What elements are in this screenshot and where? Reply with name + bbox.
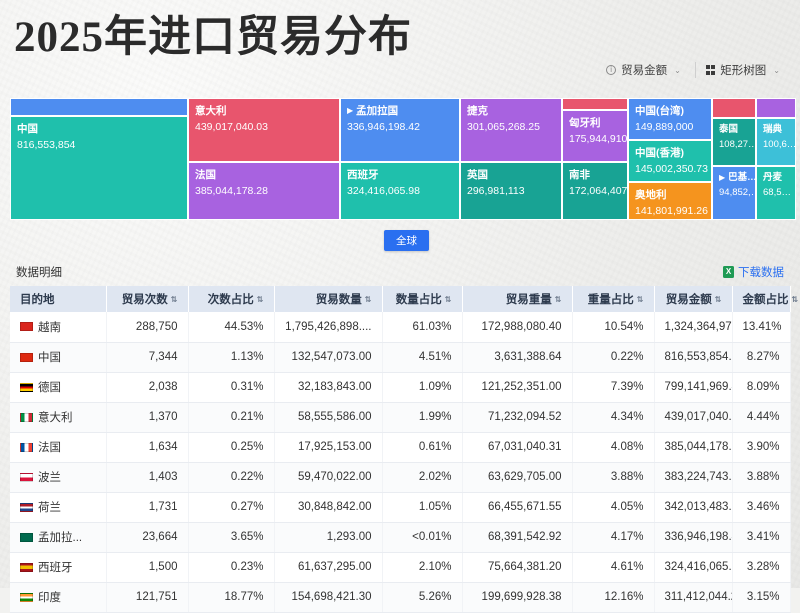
table-header-贸易次数[interactable]: 贸易次数⇅	[106, 286, 188, 312]
cell-quantity: 32,183,843.00	[274, 372, 382, 402]
cell-quantity_pct: 1.05%	[382, 492, 462, 522]
table-header-label: 贸易次数	[122, 294, 168, 306]
cell-amount: 342,013,483.09	[654, 492, 732, 522]
destination-label: 西班牙	[38, 559, 73, 575]
cell-count_pct: 18.77%	[188, 582, 274, 612]
country-flag-icon	[20, 473, 33, 482]
cell-amount_pct: 3.46%	[732, 492, 790, 522]
treemap-tile-value: 816,553,854	[17, 138, 181, 152]
table-header-label: 次数占比	[208, 294, 254, 306]
treemap-tile-value: 100,6…	[763, 139, 789, 152]
treemap-tile-name: 匈牙利	[569, 116, 621, 130]
cell-destination: 孟加拉...	[10, 522, 106, 552]
cell-weight: 67,031,040.31	[462, 432, 572, 462]
sort-icon[interactable]: ⇅	[171, 295, 178, 304]
country-flag-icon	[20, 533, 33, 542]
table-header-目的地: 目的地	[10, 286, 106, 312]
cell-destination: 中国	[10, 342, 106, 372]
table-header-贸易数量[interactable]: 贸易数量⇅	[274, 286, 382, 312]
table-row[interactable]: 波兰1,4030.22%59,470,022.002.02%63,629,705…	[10, 462, 790, 492]
download-data-label: 下载数据	[738, 264, 784, 280]
cell-count_pct: 0.31%	[188, 372, 274, 402]
cell-weight: 68,391,542.92	[462, 522, 572, 552]
treemap-tile-name: 南非	[569, 168, 621, 182]
page-root: 2025年进口贸易分布 i 贸易金额 ⌄ 矩形树图 ⌄ 中国816,553,85…	[0, 0, 800, 588]
table-header-label: 贸易数量	[316, 294, 362, 306]
treemap-tile-匈牙利[interactable]: 匈牙利175,944,910.58	[562, 110, 628, 162]
sort-icon[interactable]: ⇅	[257, 295, 264, 304]
cell-amount: 336,946,198.42	[654, 522, 732, 552]
treemap-tile-value: 94,852,…	[719, 187, 749, 200]
grid-icon	[706, 65, 716, 75]
treemap-tile-中国(香港)[interactable]: 中国(香港)145,002,350.73	[628, 140, 712, 182]
cell-weight_pct: 4.05%	[572, 492, 654, 522]
cell-destination: 意大利	[10, 402, 106, 432]
data-detail-panel: 数据明细 X 下载数据 目的地贸易次数⇅次数占比⇅贸易数量⇅数量占比⇅贸易重量⇅…	[10, 258, 790, 588]
country-flag-icon	[20, 443, 33, 452]
table-row[interactable]: 印度121,75118.77%154,698,421.305.26%199,69…	[10, 582, 790, 612]
cell-weight_pct: 4.61%	[572, 552, 654, 582]
cell-weight: 71,232,094.52	[462, 402, 572, 432]
treemap-tile-name: 法国	[195, 168, 333, 182]
cell-weight_pct: 4.17%	[572, 522, 654, 552]
cell-destination: 西班牙	[10, 552, 106, 582]
table-header-label: 金额占比	[743, 294, 789, 306]
treemap-tile-unlabeled[interactable]	[712, 98, 756, 118]
cell-amount_pct: 3.90%	[732, 432, 790, 462]
treemap-tile-南非[interactable]: 南非172,064,407.59	[562, 162, 628, 220]
treemap-tile-中国[interactable]: 中国816,553,854	[10, 116, 188, 220]
destination-label: 德国	[38, 379, 61, 395]
cell-weight_pct: 0.22%	[572, 342, 654, 372]
chart-type-selector-label: 矩形树图	[720, 62, 766, 78]
destination-label: 荷兰	[38, 499, 61, 515]
table-header-row: 目的地贸易次数⇅次数占比⇅贸易数量⇅数量占比⇅贸易重量⇅重量占比⇅贸易金额⇅金额…	[10, 286, 790, 312]
cell-quantity: 58,555,586.00	[274, 402, 382, 432]
treemap-tile-泰国[interactable]: 泰国108,27…	[712, 118, 756, 166]
table-header-label: 贸易重量	[506, 294, 552, 306]
country-flag-icon	[20, 563, 33, 572]
expand-triangle-icon[interactable]: ▶	[719, 173, 725, 184]
cell-weight: 172,988,080.40	[462, 312, 572, 342]
treemap-tile-瑞典[interactable]: 瑞典100,6…	[756, 118, 796, 166]
cell-quantity_pct: 5.26%	[382, 582, 462, 612]
sort-icon[interactable]: ⇅	[555, 295, 562, 304]
sort-icon[interactable]: ⇅	[715, 295, 722, 304]
table-header-次数占比[interactable]: 次数占比⇅	[188, 286, 274, 312]
table-header-贸易重量[interactable]: 贸易重量⇅	[462, 286, 572, 312]
cell-trade_count: 1,731	[106, 492, 188, 522]
treemap-tile-name: 瑞典	[763, 124, 789, 137]
treemap-tile-英国[interactable]: 英国296,981,113	[460, 162, 562, 220]
cell-quantity_pct: 2.02%	[382, 462, 462, 492]
table-row[interactable]: 中国7,3441.13%132,547,073.004.51%3,631,388…	[10, 342, 790, 372]
table-header-label: 数量占比	[396, 294, 442, 306]
metric-selector[interactable]: i 贸易金额 ⌄	[596, 62, 691, 78]
treemap-tile-name: 英国	[467, 168, 555, 182]
cell-destination: 波兰	[10, 462, 106, 492]
cell-amount_pct: 13.41%	[732, 312, 790, 342]
cell-weight_pct: 7.39%	[572, 372, 654, 402]
cell-quantity_pct: 1.99%	[382, 402, 462, 432]
cell-weight_pct: 12.16%	[572, 582, 654, 612]
table-header-label: 贸易金额	[666, 294, 712, 306]
table-row[interactable]: 荷兰1,7310.27%30,848,842.001.05%66,455,671…	[10, 492, 790, 522]
chart-type-selector[interactable]: 矩形树图 ⌄	[695, 62, 790, 78]
cell-destination: 法国	[10, 432, 106, 462]
cell-trade_count: 1,370	[106, 402, 188, 432]
cell-count_pct: 0.23%	[188, 552, 274, 582]
cell-quantity_pct: 0.61%	[382, 432, 462, 462]
cell-destination: 荷兰	[10, 492, 106, 522]
treemap-tile-法国[interactable]: 法国385,044,178.28	[188, 162, 340, 220]
table-row[interactable]: 越南288,75044.53%1,795,426,898....61.03%17…	[10, 312, 790, 342]
treemap-tile-value: 68,5…	[763, 187, 789, 200]
treemap-tile-unlabeled[interactable]	[10, 98, 188, 116]
country-flag-icon	[20, 413, 33, 422]
table-header-贸易金额[interactable]: 贸易金额⇅	[654, 286, 732, 312]
cell-count_pct: 44.53%	[188, 312, 274, 342]
treemap-tile-value: 175,944,910.58	[569, 132, 621, 146]
sort-icon[interactable]: ⇅	[637, 295, 644, 304]
cell-amount_pct: 8.27%	[732, 342, 790, 372]
cell-trade_count: 1,500	[106, 552, 188, 582]
table-row[interactable]: 孟加拉...23,6643.65%1,293.00<0.01%68,391,54…	[10, 522, 790, 552]
treemap-tile-value: 141,801,991.26	[635, 204, 705, 218]
treemap-tile-value: 296,981,113	[467, 184, 555, 198]
cell-amount_pct: 3.88%	[732, 462, 790, 492]
cell-amount: 383,224,743.32	[654, 462, 732, 492]
cell-weight_pct: 4.08%	[572, 432, 654, 462]
chart-toolbar: i 贸易金额 ⌄ 矩形树图 ⌄	[596, 62, 790, 78]
info-circle-icon: i	[606, 65, 616, 75]
treemap-tile-name: 意大利	[195, 104, 333, 118]
treemap-tile-unlabeled[interactable]	[562, 98, 628, 110]
treemap-tile-name: 中国(台湾)	[635, 104, 705, 118]
panel-header: 数据明细 X 下载数据	[10, 258, 790, 286]
cell-amount_pct: 3.41%	[732, 522, 790, 552]
download-data-link[interactable]: X 下载数据	[723, 264, 784, 280]
cell-count_pct: 0.22%	[188, 462, 274, 492]
treemap-tile-value: 439,017,040.03	[195, 120, 333, 134]
destination-label: 越南	[38, 319, 61, 335]
destination-label: 印度	[38, 589, 61, 605]
table-header-label: 重量占比	[588, 294, 634, 306]
treemap-tile-name: 西班牙	[347, 168, 453, 182]
treemap-tile-奥地利[interactable]: 奥地利141,801,991.26	[628, 182, 712, 220]
treemap-tile-name: 中国	[17, 122, 181, 136]
cell-weight: 199,699,928.38	[462, 582, 572, 612]
country-flag-icon	[20, 353, 33, 362]
cell-quantity_pct: 2.10%	[382, 552, 462, 582]
treemap-tile-name: 捷克	[467, 104, 555, 118]
treemap-tile-孟加拉国[interactable]: ▶孟加拉国336,946,198.42	[340, 98, 460, 162]
sort-icon[interactable]: ⇅	[445, 295, 452, 304]
table-header-label: 目的地	[20, 294, 55, 306]
treemap-tile-巴基…[interactable]: ▶巴基…94,852,…	[712, 166, 756, 220]
treemap-tile-value: 172,064,407.59	[569, 184, 621, 198]
cell-quantity: 17,925,153.00	[274, 432, 382, 462]
cell-destination: 德国	[10, 372, 106, 402]
destination-label: 中国	[38, 349, 61, 365]
metric-selector-label: 贸易金额	[621, 62, 667, 78]
cell-destination: 印度	[10, 582, 106, 612]
country-flag-icon	[20, 383, 33, 392]
cell-weight_pct: 4.34%	[572, 402, 654, 432]
treemap-tile-意大利[interactable]: 意大利439,017,040.03	[188, 98, 340, 162]
destination-label: 孟加拉...	[38, 529, 82, 545]
cell-destination: 越南	[10, 312, 106, 342]
cell-amount: 799,141,969.45	[654, 372, 732, 402]
cell-count_pct: 0.21%	[188, 402, 274, 432]
treemap-tile-value: 145,002,350.73	[635, 162, 705, 176]
cell-trade_count: 23,664	[106, 522, 188, 552]
treemap-tile-name: ▶巴基…	[719, 172, 749, 185]
cell-quantity: 1,293.00	[274, 522, 382, 552]
destination-label: 波兰	[38, 469, 61, 485]
cell-amount_pct: 3.28%	[732, 552, 790, 582]
country-flag-icon	[20, 322, 33, 331]
cell-weight: 75,664,381.20	[462, 552, 572, 582]
table-row[interactable]: 法国1,6340.25%17,925,153.000.61%67,031,040…	[10, 432, 790, 462]
cell-quantity_pct: 4.51%	[382, 342, 462, 372]
table-header-数量占比[interactable]: 数量占比⇅	[382, 286, 462, 312]
page-title: 2025年进口贸易分布	[14, 14, 412, 61]
treemap-tile-name: 中国(香港)	[635, 146, 705, 160]
cell-count_pct: 0.27%	[188, 492, 274, 522]
destination-label: 意大利	[38, 409, 73, 425]
cell-amount: 324,416,065.98	[654, 552, 732, 582]
scope-global-button[interactable]: 全球	[384, 230, 429, 251]
treemap-tile-value: 301,065,268.25	[467, 120, 555, 134]
treemap-tile-value: 336,946,198.42	[347, 120, 453, 134]
treemap-tile-value: 324,416,065.98	[347, 184, 453, 198]
cell-count_pct: 3.65%	[188, 522, 274, 552]
cell-quantity_pct: <0.01%	[382, 522, 462, 552]
cell-amount: 816,553,854.00	[654, 342, 732, 372]
cell-weight_pct: 3.88%	[572, 462, 654, 492]
cell-weight: 3,631,388.64	[462, 342, 572, 372]
treemap-tile-捷克[interactable]: 捷克301,065,268.25	[460, 98, 562, 162]
cell-amount_pct: 3.15%	[732, 582, 790, 612]
cell-amount: 439,017,040.03	[654, 402, 732, 432]
cell-amount: 311,412,044.22	[654, 582, 732, 612]
treemap-tile-西班牙[interactable]: 西班牙324,416,065.98	[340, 162, 460, 220]
cell-amount_pct: 8.09%	[732, 372, 790, 402]
cell-quantity: 132,547,073.00	[274, 342, 382, 372]
cell-quantity_pct: 61.03%	[382, 312, 462, 342]
treemap-tile-value: 385,044,178.28	[195, 184, 333, 198]
cell-quantity: 154,698,421.30	[274, 582, 382, 612]
cell-count_pct: 1.13%	[188, 342, 274, 372]
table-row[interactable]: 西班牙1,5000.23%61,637,295.002.10%75,664,38…	[10, 552, 790, 582]
table-row[interactable]: 意大利1,3700.21%58,555,586.001.99%71,232,09…	[10, 402, 790, 432]
cell-trade_count: 1,634	[106, 432, 188, 462]
treemap-tile-name: 泰国	[719, 124, 749, 137]
panel-title: 数据明细	[16, 264, 62, 280]
treemap-tile-unlabeled[interactable]	[756, 98, 796, 118]
table-row[interactable]: 德国2,0380.31%32,183,843.001.09%121,252,35…	[10, 372, 790, 402]
cell-amount: 1,324,364,971.94	[654, 312, 732, 342]
treemap-tile-name: 丹麦	[763, 172, 789, 185]
cell-weight: 121,252,351.00	[462, 372, 572, 402]
cell-trade_count: 7,344	[106, 342, 188, 372]
cell-count_pct: 0.25%	[188, 432, 274, 462]
country-flag-icon	[20, 593, 33, 602]
cell-weight: 66,455,671.55	[462, 492, 572, 522]
table-header-重量占比[interactable]: 重量占比⇅	[572, 286, 654, 312]
cell-quantity: 61,637,295.00	[274, 552, 382, 582]
destination-label: 法国	[38, 439, 61, 455]
treemap-tile-name: ▶孟加拉国	[347, 104, 453, 118]
treemap-tile-丹麦[interactable]: 丹麦68,5…	[756, 166, 796, 220]
sort-icon[interactable]: ⇅	[365, 295, 372, 304]
cell-quantity: 1,795,426,898....	[274, 312, 382, 342]
sort-icon[interactable]: ⇅	[792, 295, 799, 304]
cell-amount: 385,044,178.28	[654, 432, 732, 462]
cell-trade_count: 121,751	[106, 582, 188, 612]
treemap-tile-value: 149,889,000	[635, 120, 705, 134]
treemap-tile-中国(台湾)[interactable]: 中国(台湾)149,889,000	[628, 98, 712, 140]
cell-trade_count: 1,403	[106, 462, 188, 492]
cell-trade_count: 2,038	[106, 372, 188, 402]
cell-quantity_pct: 1.09%	[382, 372, 462, 402]
chevron-down-icon: ⌄	[773, 66, 780, 75]
cell-quantity: 30,848,842.00	[274, 492, 382, 522]
cell-weight: 63,629,705.00	[462, 462, 572, 492]
treemap-tile-name: 奥地利	[635, 188, 705, 202]
cell-amount_pct: 4.44%	[732, 402, 790, 432]
excel-icon: X	[723, 266, 734, 278]
cell-quantity: 59,470,022.00	[274, 462, 382, 492]
treemap-tile-value: 108,27…	[719, 139, 749, 152]
expand-triangle-icon[interactable]: ▶	[347, 106, 353, 117]
chevron-down-icon: ⌄	[674, 66, 681, 75]
trade-data-table: 目的地贸易次数⇅次数占比⇅贸易数量⇅数量占比⇅贸易重量⇅重量占比⇅贸易金额⇅金额…	[10, 286, 791, 613]
table-body: 越南288,75044.53%1,795,426,898....61.03%17…	[10, 312, 790, 612]
country-flag-icon	[20, 503, 33, 512]
cell-weight_pct: 10.54%	[572, 312, 654, 342]
table-header-金额占比[interactable]: 金额占比⇅	[732, 286, 790, 312]
treemap-chart[interactable]: 中国816,553,854意大利439,017,040.03法国385,044,…	[10, 98, 790, 220]
cell-trade_count: 288,750	[106, 312, 188, 342]
